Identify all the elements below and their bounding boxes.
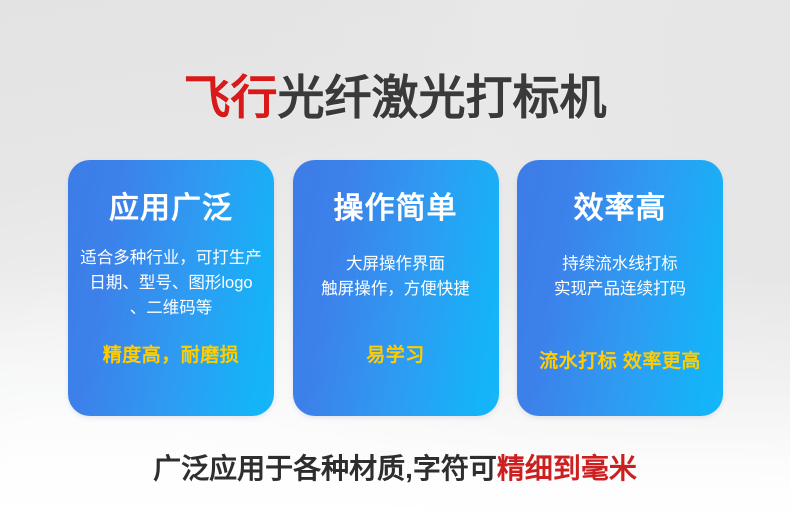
banner-title-accent: 飞行: [184, 71, 278, 124]
promo-banner: 飞行光纤激光打标机 应用广泛 适合多种行业，可打生产 日期、型号、图形logo …: [0, 0, 790, 517]
feature-card-operation: 操作简单 大屏操作界面 触屏操作，方便快捷 易学习: [293, 160, 499, 416]
card-heading: 效率高: [574, 192, 667, 226]
card-body: 持续流水线打标 实现产品连续打码: [505, 252, 735, 302]
feature-card-list: 应用广泛 适合多种行业，可打生产 日期、型号、图形logo 、二维码等 精度高，…: [68, 160, 723, 416]
footer-accent-text: 精细到毫米: [497, 453, 637, 484]
card-heading: 应用广泛: [109, 192, 233, 226]
card-body-line: 、二维码等: [56, 296, 286, 321]
feature-card-efficiency: 效率高 持续流水线打标 实现产品连续打码 流水打标 效率更高: [517, 160, 723, 416]
card-body-line: 持续流水线打标: [505, 252, 735, 277]
card-body: 大屏操作界面 触屏操作，方便快捷: [281, 252, 511, 302]
card-accent-text: 流水打标 效率更高: [539, 350, 701, 374]
card-body-line: 大屏操作界面: [281, 252, 511, 277]
card-accent-text: 易学习: [366, 344, 425, 368]
banner-title: 飞行光纤激光打标机: [0, 69, 790, 127]
card-body: 适合多种行业，可打生产 日期、型号、图形logo 、二维码等: [56, 246, 286, 321]
card-body-line: 日期、型号、图形logo: [56, 271, 286, 296]
card-body-line: 实现产品连续打码: [505, 277, 735, 302]
feature-card-application: 应用广泛 适合多种行业，可打生产 日期、型号、图形logo 、二维码等 精度高，…: [68, 160, 274, 416]
card-heading: 操作简单: [334, 192, 458, 226]
banner-footer-tagline: 广泛应用于各种材质,字符可精细到毫米: [0, 450, 790, 488]
card-accent-text: 精度高，耐磨损: [103, 344, 240, 368]
banner-title-rest: 光纤激光打标机: [278, 71, 607, 124]
card-body-line: 适合多种行业，可打生产: [56, 246, 286, 271]
footer-plain-text: 广泛应用于各种材质,字符可: [153, 453, 497, 484]
card-body-line: 触屏操作，方便快捷: [281, 277, 511, 302]
